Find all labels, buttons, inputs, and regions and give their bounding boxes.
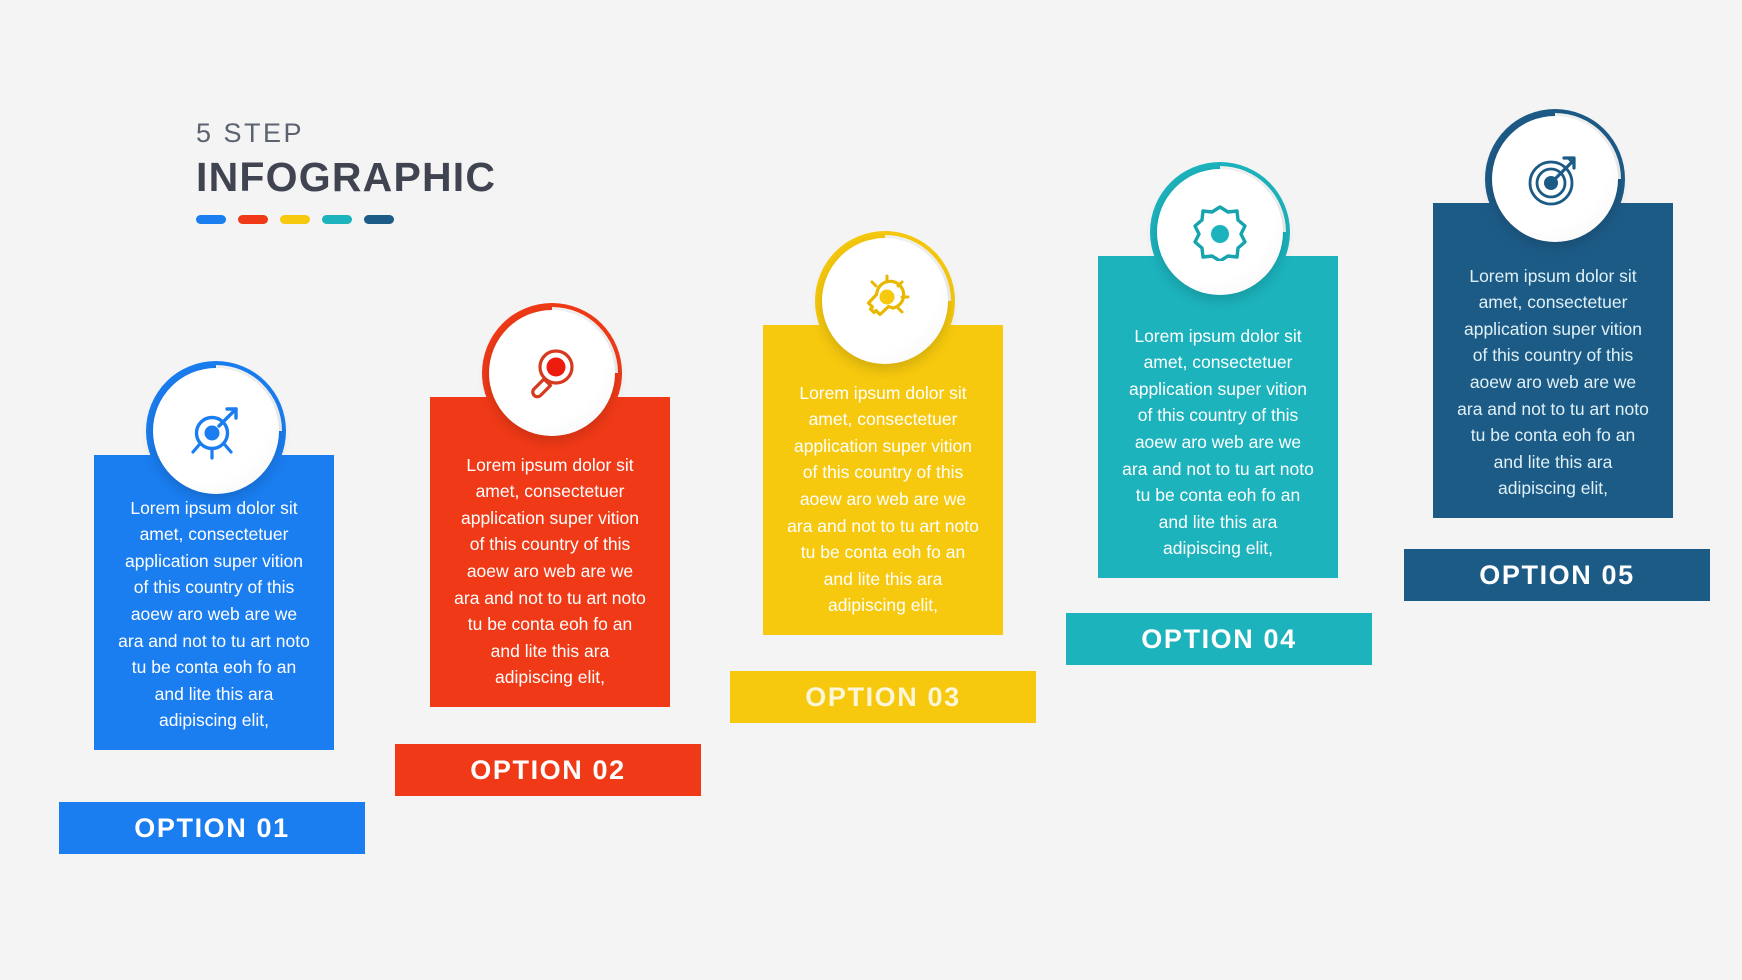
banner-label-option-02: OPTION 02: [470, 755, 625, 786]
magnifier-icon: [521, 342, 583, 404]
bullseye-target-icon: [1524, 148, 1586, 210]
card-text-option-02: Lorem ipsum dolor sit amet, consectetuer…: [452, 452, 648, 707]
icon-circle-option-04[interactable]: [1144, 156, 1296, 308]
gear-icon: [1191, 203, 1249, 261]
icon-disc-option-01: [153, 368, 279, 494]
icon-circle-option-03[interactable]: [809, 225, 961, 377]
card-text-option-01: Lorem ipsum dolor sit amet, consectetuer…: [116, 495, 312, 750]
icon-disc-option-04: [1157, 169, 1283, 295]
banner-option-04[interactable]: OPTION 04: [1066, 613, 1372, 665]
card-text-option-05: Lorem ipsum dolor sit amet, consectetuer…: [1455, 263, 1651, 518]
banner-option-05[interactable]: OPTION 05: [1404, 549, 1710, 601]
icon-disc-option-05: [1492, 116, 1618, 242]
card-text-option-03: Lorem ipsum dolor sit amet, consectetuer…: [785, 380, 981, 635]
icon-circle-option-01[interactable]: [140, 355, 292, 507]
banner-option-01[interactable]: OPTION 01: [59, 802, 365, 854]
swatch-4: [322, 215, 352, 224]
page-title: INFOGRAPHIC: [196, 157, 616, 198]
swatch-2: [238, 215, 268, 224]
infographic-canvas: 5 STEP INFOGRAPHIC Lorem ipsum dolor sit…: [0, 0, 1742, 980]
banner-label-option-01: OPTION 01: [134, 813, 289, 844]
swatch-1: [196, 215, 226, 224]
banner-option-03[interactable]: OPTION 03: [730, 671, 1036, 723]
banner-option-02[interactable]: OPTION 02: [395, 744, 701, 796]
page-subtitle: 5 STEP: [196, 120, 616, 147]
icon-circle-option-02[interactable]: [476, 297, 628, 449]
banner-label-option-05: OPTION 05: [1479, 560, 1634, 591]
icon-disc-option-03: [822, 238, 948, 364]
card-text-option-04: Lorem ipsum dolor sit amet, consectetuer…: [1120, 323, 1316, 578]
target-arrow-icon: [185, 400, 247, 462]
swatch-5: [364, 215, 394, 224]
color-swatch-row: [196, 215, 616, 224]
banner-label-option-03: OPTION 03: [805, 682, 960, 713]
banner-label-option-04: OPTION 04: [1141, 624, 1296, 655]
swatch-3: [280, 215, 310, 224]
icon-circle-option-05[interactable]: [1479, 103, 1631, 255]
lightbulb-idea-icon: [854, 270, 916, 332]
icon-disc-option-02: [489, 310, 615, 436]
title-block: 5 STEP INFOGRAPHIC: [196, 120, 616, 224]
